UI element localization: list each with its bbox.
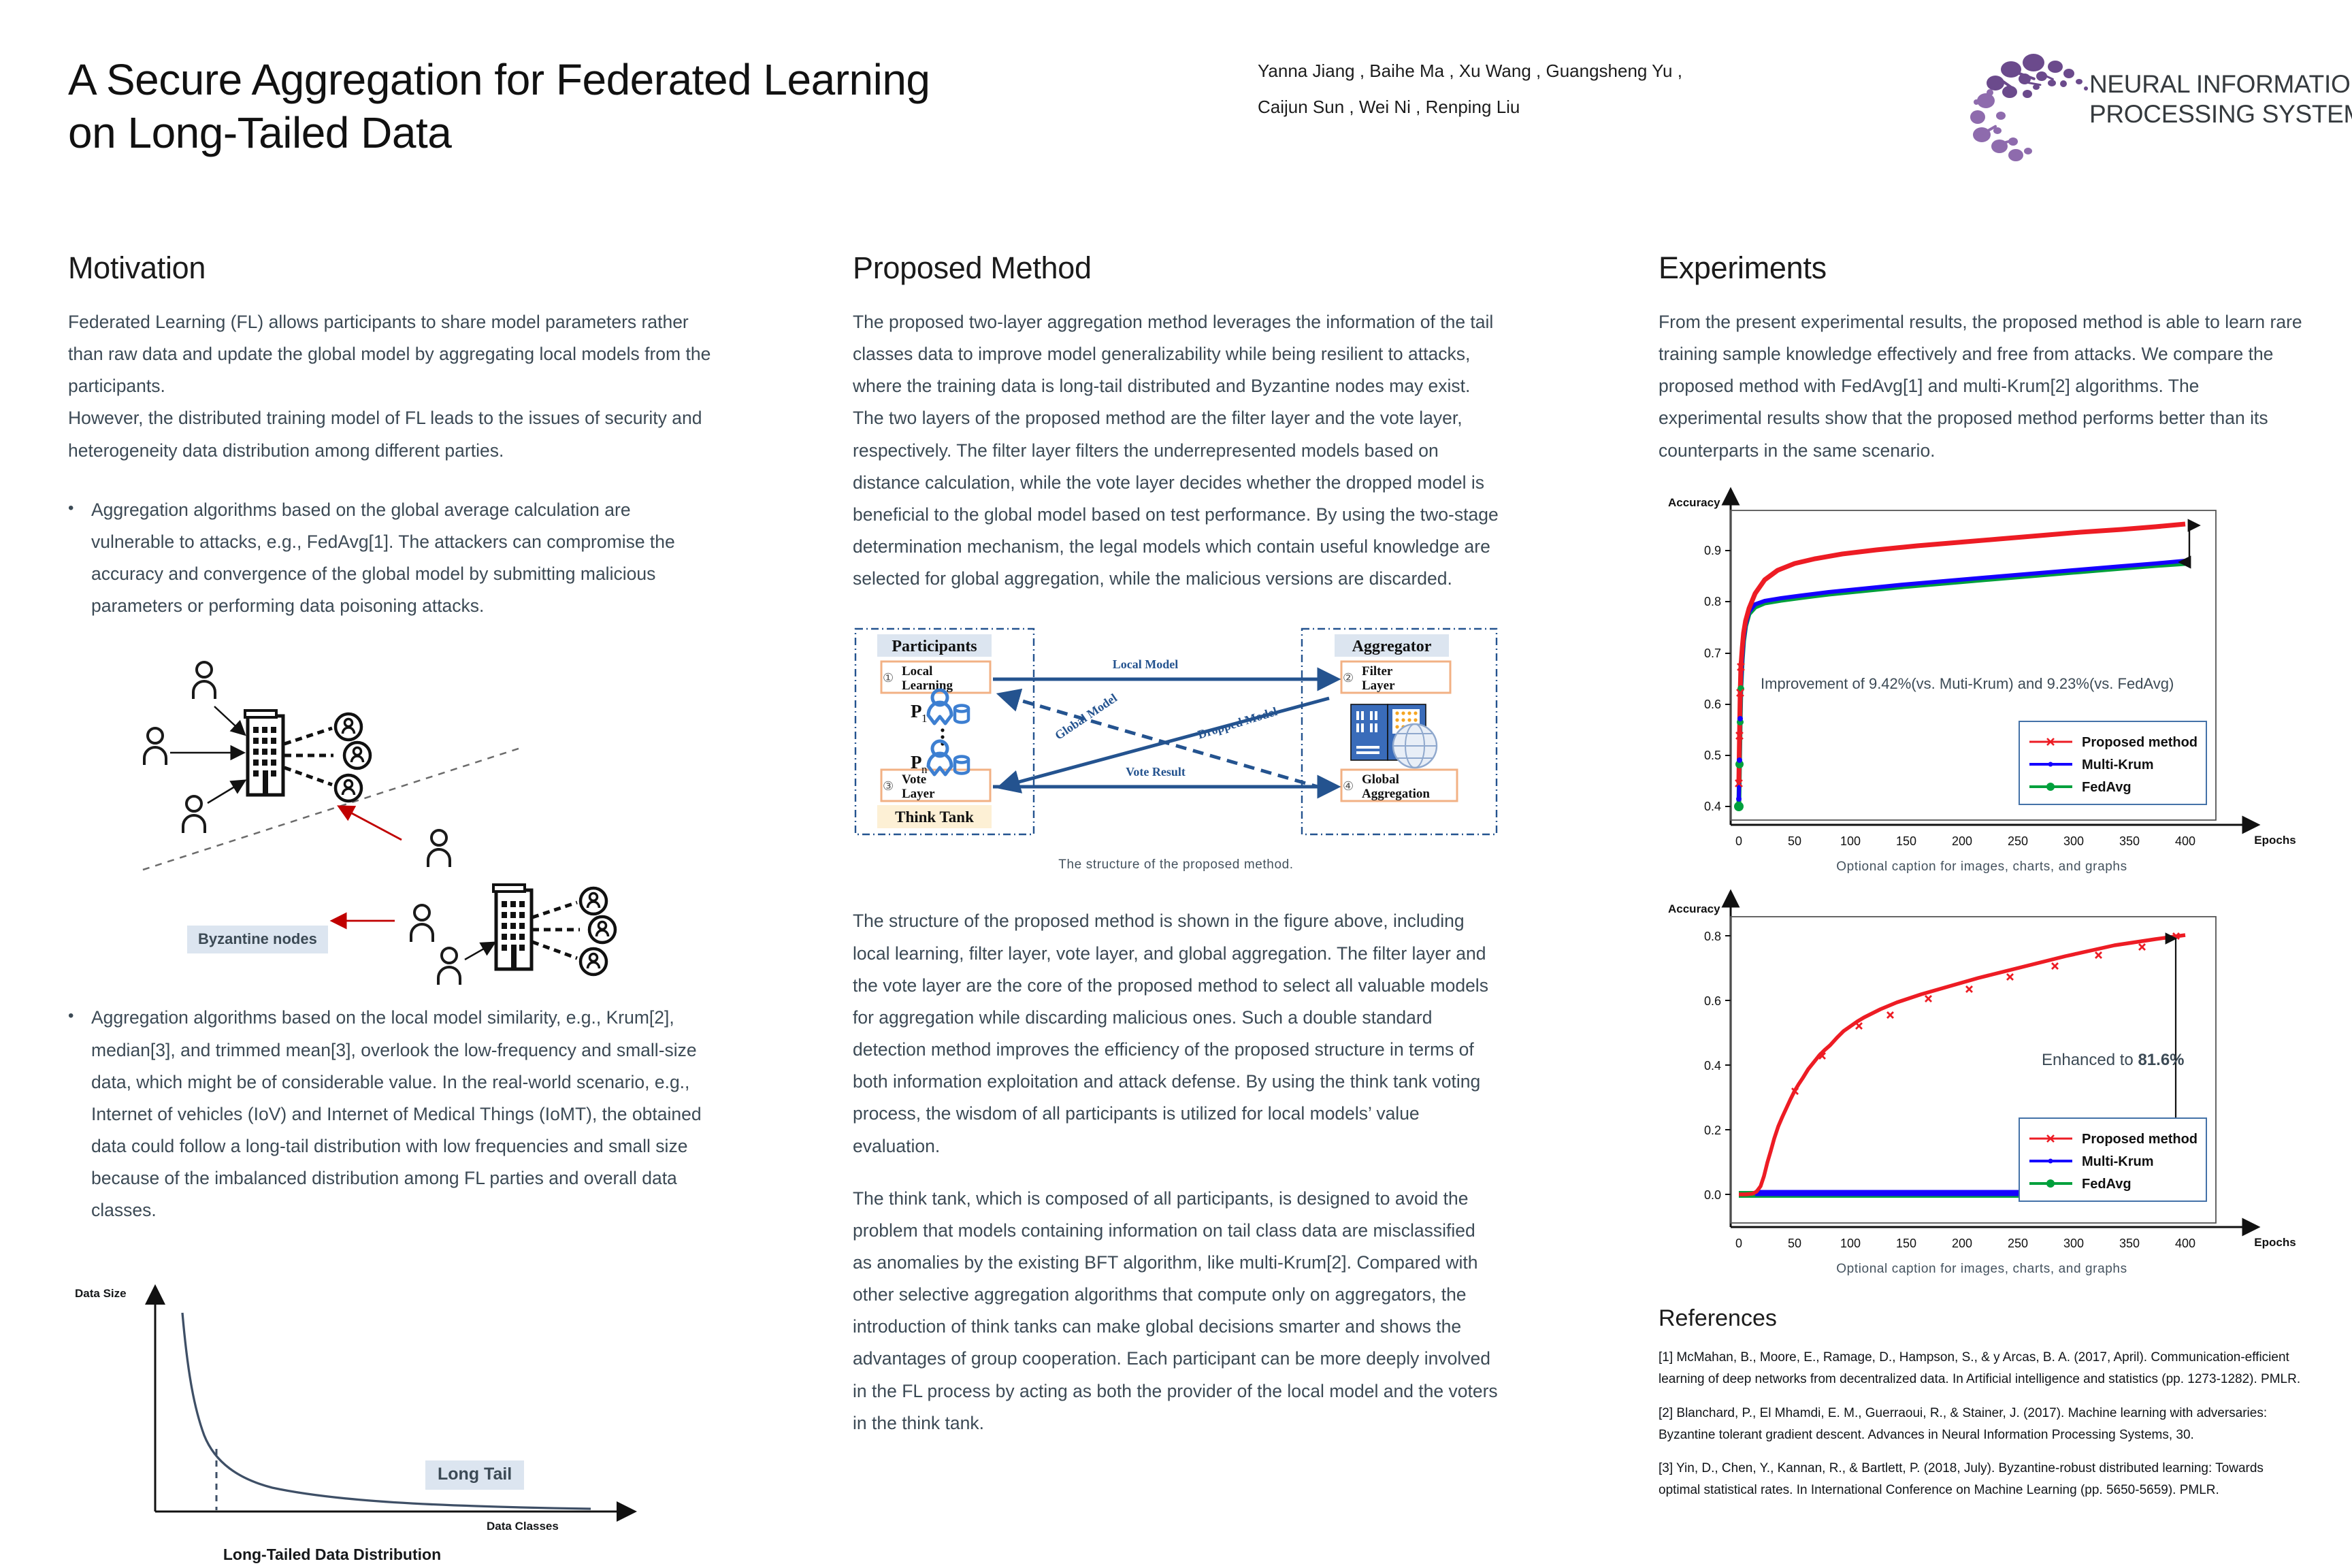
author-line-1: Yanna Jiang , Baihe Ma , Xu Wang , Guang…: [1258, 53, 1870, 89]
neurips-logo: NEURAL INFORMATION PROCESSING SYSTEMS: [1960, 34, 2314, 170]
svg-text:0.0: 0.0: [1704, 1188, 1721, 1202]
experiment-chart-2: Accuracy 0.00.20.4 0.60.8 050100 1502002…: [1659, 887, 2305, 1258]
references-list: [1] McMahan, B., Moore, E., Ramage, D., …: [1659, 1347, 2305, 1501]
bullet-dot-icon: •: [68, 1002, 91, 1226]
svg-text:Dropped Model: Dropped Model: [1196, 704, 1279, 742]
svg-text:0.2: 0.2: [1704, 1124, 1721, 1137]
accuracy-chart-no-attack: Accuracy 0.40.50.6 0.70.80.9 050100 1502…: [1659, 485, 2305, 855]
svg-text:Local: Local: [902, 664, 932, 679]
svg-text:Epochs: Epochs: [2254, 834, 2296, 847]
svg-text:0.7: 0.7: [1704, 647, 1721, 660]
svg-text:①: ①: [883, 671, 894, 685]
svg-text:FedAvg: FedAvg: [2082, 780, 2131, 795]
svg-text:Aggregation: Aggregation: [1362, 787, 1430, 801]
proposed-method-column: Proposed Method The proposed two-layer a…: [853, 250, 1499, 1439]
svg-text:250: 250: [2008, 834, 2028, 848]
svg-text:0.8: 0.8: [1704, 930, 1721, 943]
svg-text:0: 0: [1735, 834, 1742, 848]
chart1-annotation: Improvement of 9.42%(vs. Muti-Krum) and …: [1761, 675, 2174, 692]
svg-text:Accuracy: Accuracy: [1668, 496, 1720, 509]
motivation-bullet-2-text: Aggregation algorithms based on the loca…: [91, 1002, 711, 1226]
chart2-annotation: Enhanced to 81.6%: [2042, 1051, 2185, 1069]
experiments-heading: Experiments: [1659, 250, 2305, 286]
chart1-caption: Optional caption for images, charts, and…: [1659, 860, 2305, 875]
proposed-method-heading: Proposed Method: [853, 250, 1499, 286]
svg-text:③: ③: [883, 779, 894, 793]
svg-text:Proposed method: Proposed method: [2082, 735, 2198, 750]
svg-text:0.6: 0.6: [1704, 698, 1721, 711]
author-line-2: Caijun Sun , Wei Ni , Renping Liu: [1258, 89, 1870, 125]
long-tail-curve: [68, 1280, 711, 1566]
author-list: Yanna Jiang , Baihe Ma , Xu Wang , Guang…: [1258, 53, 1870, 126]
long-tail-chart-title: Long-Tailed Data Distribution: [169, 1546, 495, 1564]
byzantine-nodes-figure: Byzantine nodes: [68, 652, 711, 992]
motivation-bullet-1-text: Aggregation algorithms based on the glob…: [91, 494, 711, 623]
svg-text:0: 0: [1735, 1237, 1742, 1250]
method-paragraph-2: The structure of the proposed method is …: [853, 905, 1499, 1162]
svg-text:0.8: 0.8: [1704, 595, 1721, 608]
chart2-legend: Proposed method Multi-Krum FedAvg: [2019, 1118, 2206, 1201]
poster-title-line2: on Long-Tailed Data: [68, 106, 1157, 159]
byzantine-nodes-label: Byzantine nodes: [187, 926, 328, 953]
svg-text:200: 200: [1952, 834, 1972, 848]
poster-title-line1: A Secure Aggregation for Federated Learn…: [68, 53, 1157, 106]
svg-text:0.4: 0.4: [1704, 800, 1721, 813]
neurips-logo-line1: NEURAL INFORMATION: [2089, 69, 2352, 99]
svg-text:Multi-Krum: Multi-Krum: [2082, 757, 2154, 772]
motivation-paragraph-2: However, the distributed training model …: [68, 402, 711, 466]
svg-text:②: ②: [1343, 671, 1354, 685]
svg-text:Layer: Layer: [902, 787, 935, 801]
upper-cluster: [144, 662, 370, 833]
bullet-dot-icon: •: [68, 494, 91, 623]
byzantine-nodes-diagram: [68, 652, 711, 992]
long-tail-annotation: Long Tail: [425, 1460, 524, 1490]
svg-text:100: 100: [1840, 834, 1861, 848]
method-paragraph-3: The think tank, which is composed of all…: [853, 1183, 1499, 1439]
neurips-swirl-icon: [1960, 34, 2096, 170]
svg-text:Vote Result: Vote Result: [1126, 765, 1186, 779]
lower-cluster: [333, 807, 615, 985]
motivation-bullet-2: • Aggregation algorithms based on the lo…: [68, 1002, 711, 1226]
svg-text:150: 150: [1896, 834, 1916, 848]
chart1-legend: Proposed method Multi-Krum FedAvg: [2019, 721, 2206, 804]
method-paragraph-1: The proposed two-layer aggregation metho…: [853, 306, 1499, 595]
neurips-logo-line2: PROCESSING SYSTEMS: [2089, 99, 2352, 129]
motivation-heading: Motivation: [68, 250, 711, 286]
experiments-column: Experiments From the present experimenta…: [1659, 250, 2305, 1514]
experiment-chart-1: Accuracy 0.40.50.6 0.70.80.9 050100 1502…: [1659, 485, 2305, 855]
reference-item: [1] McMahan, B., Moore, E., Ramage, D., …: [1659, 1347, 2305, 1390]
svg-text:250: 250: [2008, 1237, 2028, 1250]
svg-text:④: ④: [1343, 779, 1354, 793]
svg-text:200: 200: [1952, 1237, 1972, 1250]
svg-text:P: P: [911, 701, 922, 721]
poster-header: A Secure Aggregation for Federated Learn…: [0, 0, 2352, 225]
reference-item: [3] Yin, D., Chen, Y., Kannan, R., & Bar…: [1659, 1458, 2305, 1501]
svg-text:50: 50: [1788, 1237, 1801, 1250]
motivation-paragraph-1: Federated Learning (FL) allows participa…: [68, 306, 711, 402]
svg-text:50: 50: [1788, 834, 1801, 848]
svg-text:Epochs: Epochs: [2254, 1236, 2296, 1249]
svg-text:0.6: 0.6: [1704, 994, 1721, 1008]
svg-text:400: 400: [2175, 834, 2195, 848]
svg-text:Local Model: Local Model: [1113, 657, 1179, 671]
svg-text:Accuracy: Accuracy: [1668, 902, 1720, 915]
motivation-column: Motivation Federated Learning (FL) allow…: [68, 250, 711, 1566]
svg-text:Global Model: Global Model: [1052, 691, 1120, 743]
method-architecture-diagram: Participants Aggregator ① Local Learning…: [853, 625, 1499, 849]
svg-text:Aggregator: Aggregator: [1352, 638, 1432, 655]
svg-text:P: P: [911, 752, 922, 772]
svg-text:FedAvg: FedAvg: [2082, 1177, 2131, 1192]
svg-text:400: 400: [2175, 1237, 2195, 1250]
reference-item: [2] Blanchard, P., El Mhamdi, E. M., Gue…: [1659, 1403, 2305, 1446]
svg-text:0.5: 0.5: [1704, 749, 1721, 762]
svg-text:Multi-Krum: Multi-Krum: [2082, 1154, 2154, 1169]
long-tail-x-axis-label: Data Classes: [487, 1520, 559, 1533]
accuracy-chart-under-attack: Accuracy 0.00.20.4 0.60.8 050100 1502002…: [1659, 887, 2305, 1258]
motivation-bullet-1: • Aggregation algorithms based on the gl…: [68, 494, 711, 623]
svg-text:Filter: Filter: [1362, 664, 1393, 679]
svg-text:0.9: 0.9: [1704, 544, 1721, 557]
svg-text:350: 350: [2119, 834, 2140, 848]
svg-text:Think Tank: Think Tank: [895, 808, 974, 826]
svg-text:300: 300: [2063, 1237, 2084, 1250]
svg-text:300: 300: [2063, 834, 2084, 848]
chart2-caption: Optional caption for images, charts, and…: [1659, 1262, 2305, 1277]
long-tailed-distribution-chart: Data Size Data Classes Long Tail Long-Ta…: [68, 1280, 711, 1566]
svg-text:0.4: 0.4: [1704, 1059, 1721, 1073]
svg-text:Proposed method: Proposed method: [2082, 1132, 2198, 1147]
svg-text:1: 1: [921, 712, 928, 725]
svg-text:Participants: Participants: [892, 638, 977, 655]
svg-text:Global: Global: [1362, 772, 1399, 787]
svg-text:150: 150: [1896, 1237, 1916, 1250]
architecture-svg: Participants Aggregator ① Local Learning…: [853, 625, 1499, 849]
method-figure-caption: The structure of the proposed method.: [853, 857, 1499, 872]
svg-text:350: 350: [2119, 1237, 2140, 1250]
neurips-logo-text: NEURAL INFORMATION PROCESSING SYSTEMS: [2089, 69, 2352, 129]
long-tail-y-axis-label: Data Size: [75, 1287, 127, 1301]
server-icon: [1351, 704, 1437, 768]
experiments-paragraph-1: From the present experimental results, t…: [1659, 306, 2305, 467]
page-title: A Secure Aggregation for Federated Learn…: [68, 53, 1157, 159]
references-heading: References: [1659, 1305, 2305, 1332]
svg-text:n: n: [921, 763, 928, 776]
svg-text:100: 100: [1840, 1237, 1861, 1250]
svg-text:Layer: Layer: [1362, 679, 1395, 693]
